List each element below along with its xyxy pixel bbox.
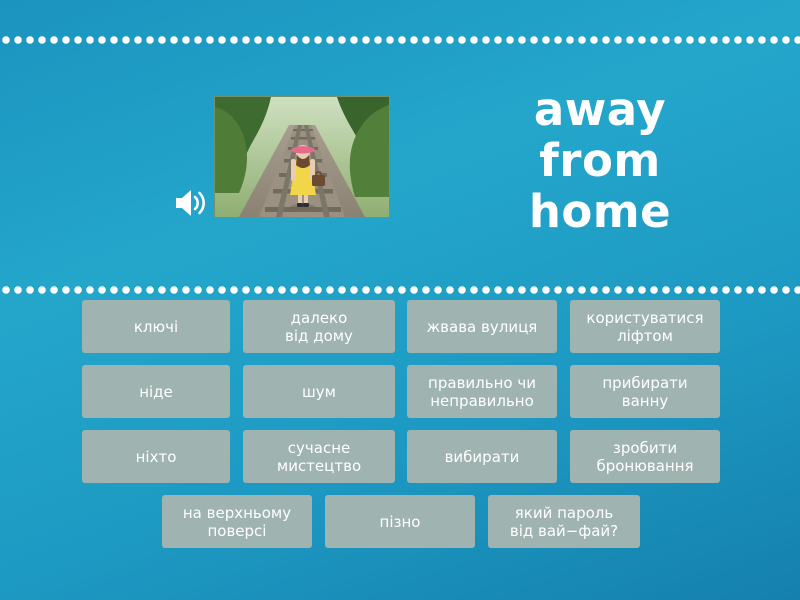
answer-tile[interactable]: зробити бронювання <box>570 430 720 483</box>
answer-grid: ключі далеко від дому жвава вулиця корис… <box>0 300 800 560</box>
prompt-area: away from home <box>0 44 800 282</box>
speaker-icon[interactable] <box>172 186 208 220</box>
answer-tile[interactable]: сучасне мистецтво <box>243 430 395 483</box>
answer-tile[interactable]: який пароль від вай−фай? <box>488 495 640 548</box>
answer-tile[interactable]: жвава вулиця <box>407 300 557 353</box>
prompt-text: away from home <box>410 84 790 237</box>
answer-tile[interactable]: правильно чи неправильно <box>407 365 557 418</box>
answer-tile[interactable]: шум <box>243 365 395 418</box>
answer-tile[interactable]: ніде <box>82 365 230 418</box>
answer-tile[interactable]: ніхто <box>82 430 230 483</box>
answer-row: ніхто сучасне мистецтво вибирати зробити… <box>0 430 800 495</box>
answer-row: ключі далеко від дому жвава вулиця корис… <box>0 300 800 365</box>
prompt-image <box>214 96 390 218</box>
answer-tile[interactable]: користуватися ліфтом <box>570 300 720 353</box>
answer-tile[interactable]: на верхньому поверсі <box>162 495 312 548</box>
divider-middle <box>0 286 800 294</box>
answer-tile[interactable]: пізно <box>325 495 475 548</box>
answer-tile[interactable]: далеко від дому <box>243 300 395 353</box>
divider-top <box>0 36 800 44</box>
answer-tile[interactable]: вибирати <box>407 430 557 483</box>
answer-row: ніде шум правильно чи неправильно прибир… <box>0 365 800 430</box>
answer-row: на верхньому поверсі пізно який пароль в… <box>0 495 800 560</box>
quiz-screen: away from home ключі далеко від дому жва… <box>0 0 800 600</box>
answer-tile[interactable]: ключі <box>82 300 230 353</box>
answer-tile[interactable]: прибирати ванну <box>570 365 720 418</box>
